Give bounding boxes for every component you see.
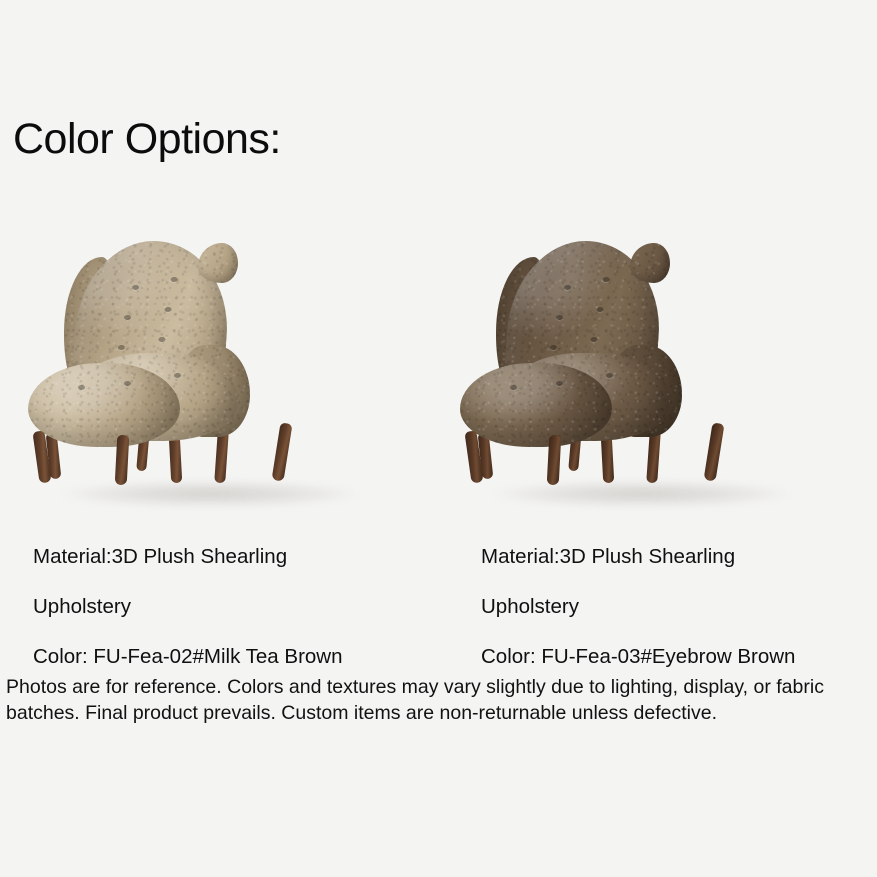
disclaimer-text: Photos are for reference. Colors and tex… bbox=[6, 674, 872, 726]
chair-illustration bbox=[20, 235, 440, 515]
product-photo-milk-tea-brown[interactable] bbox=[20, 235, 440, 515]
chair-leg-back-right bbox=[272, 422, 293, 481]
product-caption-eyebrow-brown: Material:3D Plush Shearling Upholstery C… bbox=[481, 519, 795, 694]
chair-ear-right bbox=[630, 243, 670, 283]
tufting-button bbox=[556, 381, 563, 386]
page-title: Color Options: bbox=[13, 113, 281, 165]
tufting-button bbox=[158, 337, 165, 342]
caption-material-line-1: Material:3D Plush Shearling bbox=[33, 544, 343, 569]
chair-illustration bbox=[452, 235, 872, 515]
tufting-button bbox=[510, 385, 517, 390]
tufting-button bbox=[118, 345, 125, 350]
fleece-texture bbox=[28, 363, 180, 447]
tufting-button bbox=[124, 315, 131, 320]
chair-leg-back-left bbox=[214, 431, 229, 484]
tufting-button bbox=[564, 285, 571, 290]
ottoman-leg-front-right bbox=[547, 435, 562, 486]
floor-shadow bbox=[492, 481, 792, 507]
product-photo-eyebrow-brown[interactable] bbox=[452, 235, 872, 515]
caption-color-line: Color: FU-Fea-03#Eyebrow Brown bbox=[481, 644, 795, 669]
tufting-button bbox=[556, 315, 563, 320]
caption-color-line: Color: FU-Fea-02#Milk Tea Brown bbox=[33, 644, 343, 669]
chair-leg-front-left bbox=[601, 435, 614, 484]
tufting-button bbox=[596, 307, 603, 312]
tufting-button bbox=[164, 307, 171, 312]
fleece-texture bbox=[460, 363, 612, 447]
ottoman-leg-front-right bbox=[115, 435, 130, 486]
tufting-button bbox=[132, 285, 139, 290]
chair-leg-back-right bbox=[704, 422, 725, 481]
product-caption-milk-tea-brown: Material:3D Plush Shearling Upholstery C… bbox=[33, 519, 343, 694]
caption-material-line-1: Material:3D Plush Shearling bbox=[481, 544, 795, 569]
tufting-button bbox=[590, 337, 597, 342]
tufting-button bbox=[602, 277, 609, 282]
caption-material-line-2: Upholstery bbox=[33, 594, 343, 619]
fleece-texture bbox=[198, 243, 238, 283]
product-option-eyebrow-brown[interactable] bbox=[452, 235, 872, 515]
ottoman bbox=[28, 363, 180, 447]
ottoman bbox=[460, 363, 612, 447]
fleece-texture bbox=[630, 243, 670, 283]
tufting-button bbox=[170, 277, 177, 282]
chair-leg-front-left bbox=[169, 435, 182, 484]
chair-leg-back-left bbox=[646, 431, 661, 484]
tufting-button bbox=[174, 373, 181, 378]
product-option-milk-tea-brown[interactable] bbox=[20, 235, 440, 515]
floor-shadow bbox=[60, 481, 360, 507]
chair-ear-right bbox=[198, 243, 238, 283]
caption-material-line-2: Upholstery bbox=[481, 594, 795, 619]
tufting-button bbox=[124, 381, 131, 386]
color-options-gallery bbox=[0, 235, 877, 515]
tufting-button bbox=[550, 345, 557, 350]
tufting-button bbox=[606, 373, 613, 378]
tufting-button bbox=[78, 385, 85, 390]
